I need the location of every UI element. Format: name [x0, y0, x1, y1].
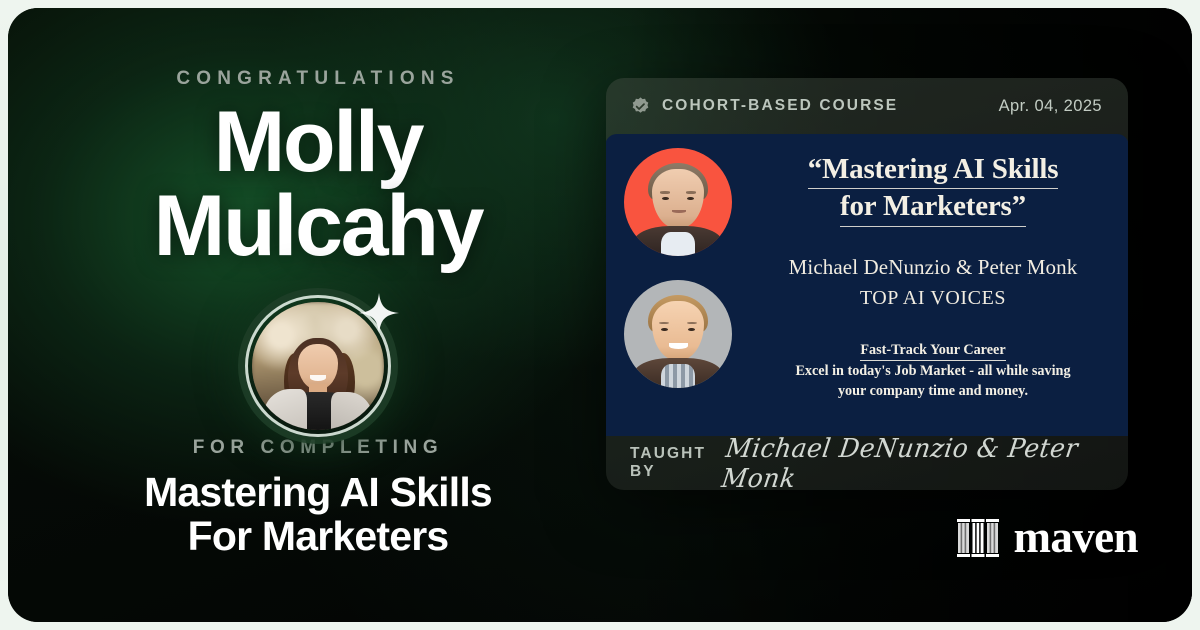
completed-course-title: Mastering AI Skills For Marketers — [144, 471, 492, 558]
verified-badge-icon — [630, 96, 651, 117]
course-title: “Mastering AI Skills for Marketers” — [759, 152, 1107, 227]
recipient-name-line-2: Mulcahy — [154, 184, 483, 268]
taught-by-label: TAUGHT BY — [630, 445, 724, 481]
instructor-photos — [606, 134, 751, 436]
avatar-ring — [245, 295, 391, 438]
course-instructors: Michael DeNunzio & Peter Monk — [759, 255, 1107, 280]
course-card[interactable]: COHORT-BASED COURSE Apr. 04, 2025 — [606, 78, 1128, 490]
instructor-signature: Michael DeNunzio & Peter Monk — [720, 433, 1106, 490]
course-date: Apr. 04, 2025 — [999, 97, 1102, 116]
course-card-text: “Mastering AI Skills for Marketers” Mich… — [751, 134, 1128, 436]
maven-logo[interactable]: maven — [956, 515, 1139, 560]
for-completing-label: FOR COMPLETING — [193, 437, 443, 459]
certificate-stage: CONGRATULATIONS Molly Mulcahy — [8, 8, 1192, 622]
certificate-left-column: CONGRATULATIONS Molly Mulcahy — [8, 8, 628, 622]
instructor-photo-peter-monk — [624, 280, 732, 388]
course-type-label: COHORT-BASED COURSE — [662, 97, 898, 115]
course-card-footer: TAUGHT BY Michael DeNunzio & Peter Monk — [606, 436, 1128, 490]
avatar — [245, 295, 391, 438]
maven-columns-icon — [956, 517, 1000, 559]
completed-course-title-line-1: Mastering AI Skills — [144, 471, 492, 514]
instructor-photo-michael-denunzio — [624, 148, 732, 256]
recipient-name: Molly Mulcahy — [154, 100, 483, 269]
course-pitch-line-2: your company time and money. — [838, 383, 1028, 399]
course-title-line-2: for Marketers” — [840, 189, 1026, 226]
recipient-name-line-1: Molly — [154, 100, 483, 184]
maven-wordmark: maven — [1014, 515, 1139, 560]
course-pitch-headline: Fast-Track Your Career — [860, 340, 1005, 361]
course-card-body: “Mastering AI Skills for Marketers” Mich… — [606, 134, 1128, 436]
congratulations-label: CONGRATULATIONS — [176, 68, 459, 90]
course-title-line-1: “Mastering AI Skills — [808, 152, 1059, 189]
course-pitch-line-1: Excel in today's Job Market - all while … — [795, 363, 1070, 379]
course-pitch: Fast-Track Your Career Excel in today's … — [759, 340, 1107, 401]
course-subtitle: TOP AI VOICES — [759, 287, 1107, 310]
completed-course-title-line-2: For Marketers — [144, 515, 492, 558]
course-card-header: COHORT-BASED COURSE Apr. 04, 2025 — [606, 78, 1128, 134]
